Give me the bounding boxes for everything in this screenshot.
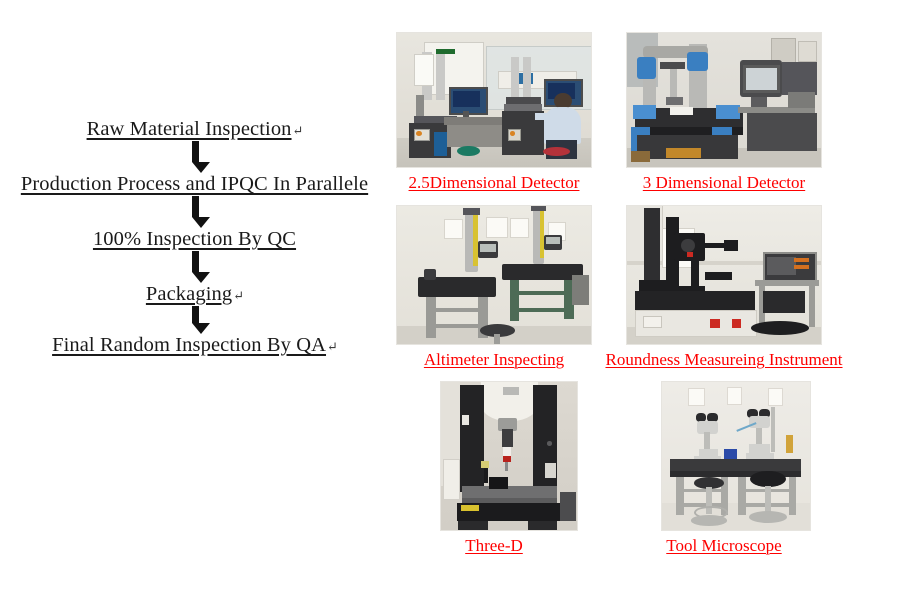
photo-bridge-cmm: [440, 381, 578, 531]
gallery-row: Three-D: [396, 381, 894, 556]
flow-step-label: 100% Inspection By QC: [93, 228, 296, 251]
gallery-item: Three-D: [396, 381, 592, 556]
photo-caption: Tool Microscope: [666, 536, 781, 556]
down-arrow-icon: [0, 251, 390, 283]
photo-caption: 3 Dimensional Detector: [643, 173, 805, 193]
flow-step: 100% Inspection By QC: [0, 228, 390, 251]
down-arrow-icon: [0, 196, 390, 228]
gallery-item: 3 Dimensional Detector: [626, 32, 822, 193]
photo-caption: Roundness Measureing Instrument: [605, 350, 842, 370]
photo-caption: Three-D: [465, 536, 523, 556]
photo-height-gauges: [396, 205, 592, 345]
paragraph-mark: ↵: [233, 288, 244, 304]
photo-caption: 2.5Dimensional Detector: [409, 173, 580, 193]
gallery-item: Altimeter Inspecting: [396, 205, 592, 370]
down-arrow-icon: [0, 306, 390, 334]
flow-step: Raw Material Inspection ↵: [0, 118, 390, 141]
inspection-flowchart: Raw Material Inspection ↵ Production Pro…: [0, 118, 390, 357]
equipment-photo-gallery: 2.5Dimensional Detector: [396, 32, 894, 556]
photo-tool-microscopes: [661, 381, 811, 531]
paragraph-mark: ↵: [327, 339, 338, 355]
gallery-row: 2.5Dimensional Detector: [396, 32, 894, 193]
down-arrow-icon: [0, 141, 390, 173]
flow-step-label: Final Random Inspection By QA: [52, 334, 326, 357]
flow-step-label: Packaging: [146, 283, 232, 306]
photo-2.5d-detector-lab: [396, 32, 592, 168]
gallery-item: Tool Microscope: [626, 381, 822, 556]
gallery-item: 2.5Dimensional Detector: [396, 32, 592, 193]
gallery-row: Altimeter Inspecting: [396, 205, 894, 370]
gallery-item: Roundness Measureing Instrument: [626, 205, 822, 370]
photo-caption: Altimeter Inspecting: [424, 350, 564, 370]
flow-step: Production Process and IPQC In Parallele: [0, 173, 390, 196]
photo-roundness-tester: [626, 205, 822, 345]
paragraph-mark: ↵: [293, 123, 304, 139]
flow-step: Final Random Inspection By QA ↵: [0, 334, 390, 357]
flow-step-label: Raw Material Inspection: [87, 118, 292, 141]
flow-step: Packaging ↵: [0, 283, 390, 306]
photo-cmm-blue: [626, 32, 822, 168]
flow-step-label: Production Process and IPQC In Parallele: [21, 173, 368, 196]
